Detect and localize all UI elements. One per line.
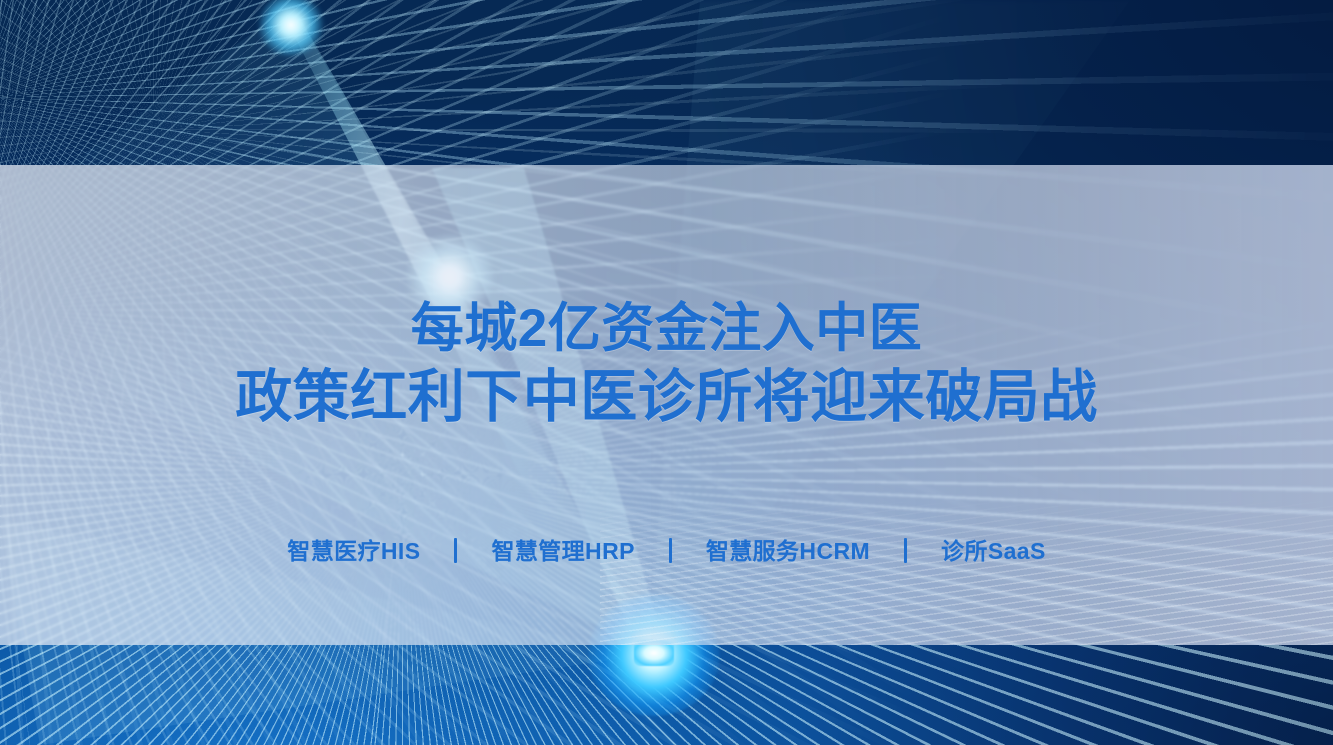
feature-item-hrp: 智慧管理HRP bbox=[491, 532, 634, 566]
feature-separator-1 bbox=[454, 538, 457, 563]
slide-canvas: 每城2亿资金注入中医 政策红利下中医诊所将迎来破局战 智慧医疗HIS 智慧管理H… bbox=[0, 0, 1333, 745]
feature-separator-2 bbox=[669, 538, 672, 563]
page-title: 每城2亿资金注入中医 政策红利下中医诊所将迎来破局战 bbox=[235, 165, 1098, 429]
feature-list: 智慧医疗HIS 智慧管理HRP 智慧服务HCRM 诊所SaaS bbox=[287, 532, 1045, 566]
headline-line-2: 政策红利下中医诊所将迎来破局战 bbox=[235, 365, 1098, 429]
feature-item-his: 智慧医疗HIS bbox=[287, 532, 420, 566]
headline-line-1: 每城2亿资金注入中医 bbox=[235, 299, 1098, 359]
feature-separator-3 bbox=[904, 538, 907, 563]
feature-item-hcrm: 智慧服务HCRM bbox=[706, 532, 870, 566]
slide-content: 每城2亿资金注入中医 政策红利下中医诊所将迎来破局战 智慧医疗HIS 智慧管理H… bbox=[0, 165, 1333, 645]
feature-item-saas: 诊所SaaS bbox=[941, 532, 1046, 566]
